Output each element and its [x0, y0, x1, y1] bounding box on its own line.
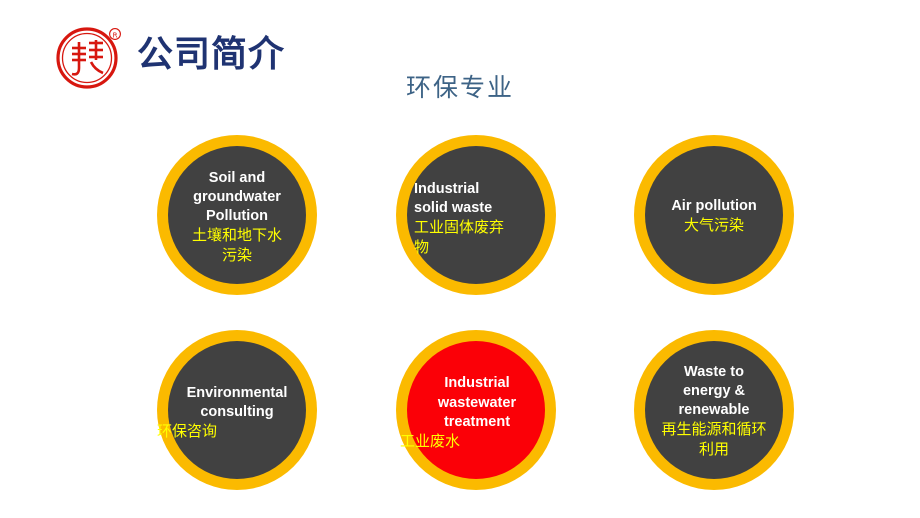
- service-bubble-waste-to-energy[interactable]: Waste to energy & renewable 再生能源和循环 利用: [634, 330, 794, 490]
- service-bubble-air-pollution[interactable]: Air pollution 大气污染: [634, 135, 794, 295]
- service-bubble-environmental-consulting[interactable]: Environmental consulting 环保咨询: [157, 330, 317, 490]
- slide-canvas: R 公司简介 环保专业 Soil and groundwater Polluti…: [0, 0, 920, 518]
- bubble-core: [645, 341, 783, 479]
- bubble-core: [168, 146, 306, 284]
- bubble-core: [645, 146, 783, 284]
- bubble-core: [407, 146, 545, 284]
- service-bubble-industrial-solid-waste[interactable]: Industrial solid waste 工业固体废弃 物: [396, 135, 556, 295]
- service-bubble-grid: Soil and groundwater Pollution 土壤和地下水 污染…: [0, 0, 920, 518]
- service-bubble-industrial-wastewater[interactable]: Industrial wastewater treatment 工业废水: [396, 330, 556, 490]
- bubble-core: [168, 341, 306, 479]
- bubble-core: [407, 341, 545, 479]
- service-bubble-soil-groundwater[interactable]: Soil and groundwater Pollution 土壤和地下水 污染: [157, 135, 317, 295]
